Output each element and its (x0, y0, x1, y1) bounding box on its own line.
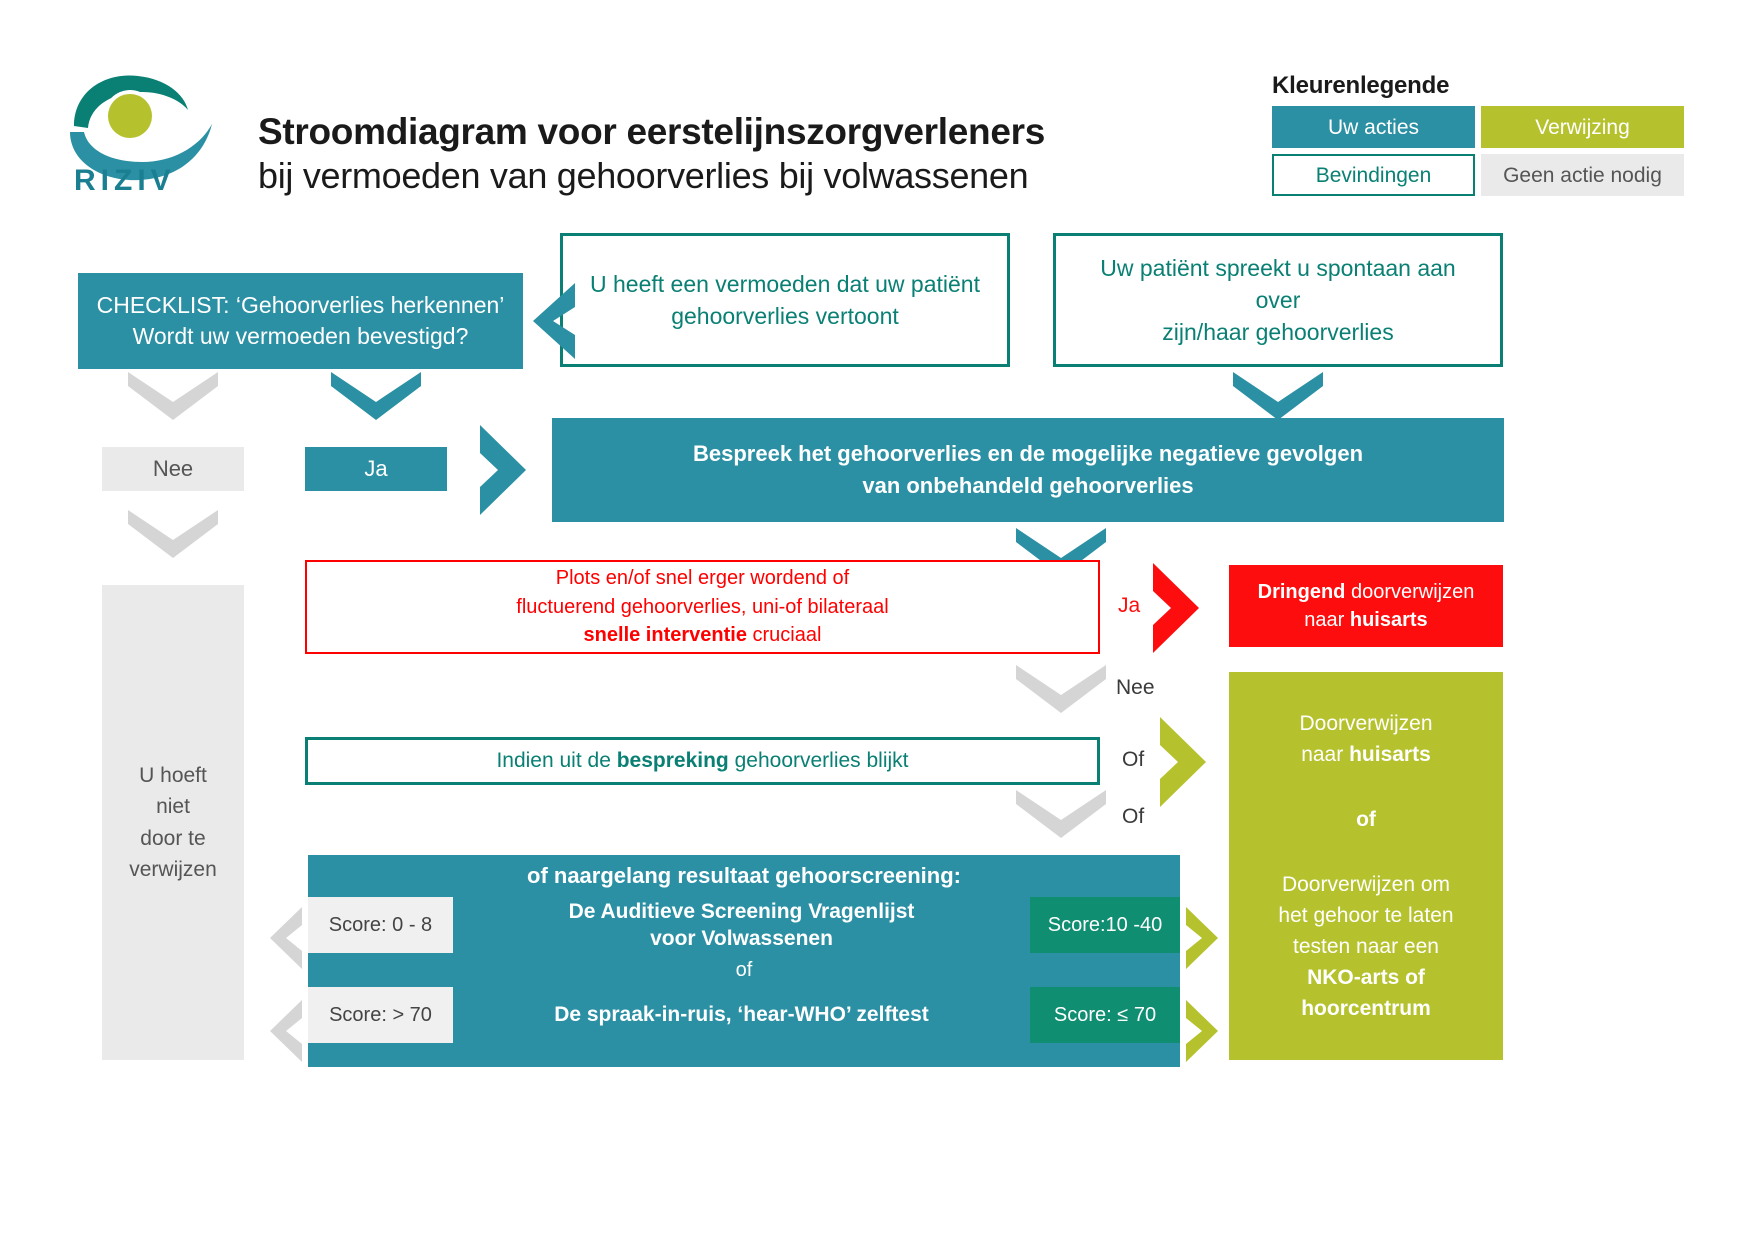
table-row: Score: 0 - 8 De Auditieve Screening Vrag… (308, 897, 1180, 953)
indien-bold: bespreking (617, 749, 729, 772)
arrow-right-indien-to-green (1160, 717, 1222, 807)
screening-footer-band (308, 1043, 1180, 1067)
arrow-right-screening-row2-to-green (1186, 1000, 1228, 1062)
legend-item-geen-actie-nodig: Geen actie nodig (1481, 154, 1684, 196)
edge-label-of-grey: Of (1122, 805, 1144, 829)
indien-pre: Indien uit de (496, 749, 616, 772)
plots-line-1: Plots en/of snel erger wordend of (556, 567, 850, 589)
green-line-1: Doorverwijzen (1299, 712, 1432, 735)
plots-line-3-rest: cruciaal (747, 624, 821, 646)
arrow-left-screening-row1-to-uhoeft (262, 907, 302, 969)
node-vermoeden: U heeft een vermoeden dat uw patiënt geh… (560, 233, 1010, 367)
flowchart-canvas: RIZIV Stroomdiagram voor eerstelijnszorg… (0, 0, 1752, 1241)
green-line-6: NKO-arts of (1307, 966, 1425, 989)
score-right-1: Score:10 -40 (1030, 897, 1180, 953)
screening-table: of naargelang resultaat gehoorscreening:… (308, 855, 1180, 1067)
dringend-line-2-rest: naar (1304, 609, 1350, 631)
page-title: Stroomdiagram voor eerstelijnszorgverlen… (258, 110, 1188, 197)
vermoeden-line-1: U heeft een vermoeden dat uw patiënt (590, 271, 980, 297)
uhoeft-line-1: U hoeft (139, 764, 207, 787)
label-nee: Nee (102, 447, 244, 491)
uhoeft-line-2: niet (156, 795, 190, 818)
title-line-2: bij vermoeden van gehoorverlies bij volw… (258, 154, 1188, 197)
dringend-line-2-bold: huisarts (1350, 609, 1428, 631)
score-right-2: Score: ≤ 70 (1030, 987, 1180, 1043)
screening-name-1-line-1: De Auditieve Screening Vragenlijst (569, 900, 915, 923)
score-left-1: Score: 0 - 8 (308, 897, 453, 953)
logo-wordmark: RIZIV (74, 164, 176, 197)
node-indien-uit-bespreking: Indien uit de bespreking gehoorverlies b… (305, 737, 1100, 785)
node-dringend-doorverwijzen-huisarts: Dringend doorverwijzen naar huisarts (1229, 565, 1503, 647)
green-line-5: testen naar een (1293, 935, 1439, 958)
node-doorverwijzen-huisarts-nko: Doorverwijzen naar huisarts of Doorverwi… (1229, 672, 1503, 1060)
dringend-rest: doorverwijzen (1345, 581, 1474, 603)
node-checklist: CHECKLIST: ‘Gehoorverlies herkennen’ Wor… (78, 273, 523, 369)
arrow-right-plots-ja-dringend (1153, 563, 1215, 653)
screening-name-1-line-2: voor Volwassenen (650, 927, 833, 950)
screening-separator: of (308, 953, 1180, 987)
arrow-down-nee-to-uhoeft (128, 510, 218, 558)
edge-label-of-olive-upper: Of (1122, 748, 1144, 772)
legend-row-2: Bevindingen Geen actie nodig (1272, 154, 1684, 196)
node-plots-snel-erger: Plots en/of snel erger wordend of fluctu… (305, 560, 1100, 654)
indien-post: gehoorverlies blijkt (729, 749, 909, 772)
arrow-down-plots-nee (1016, 665, 1106, 713)
spontaan-line-1: Uw patiënt spreekt u spontaan aan over (1100, 255, 1455, 313)
uhoeft-line-3: door te (140, 827, 205, 850)
screening-name-2: De spraak-in-ruis, ‘hear-WHO’ zelftest (453, 987, 1030, 1043)
arrow-left-screening-row2-to-uhoeft (262, 1000, 302, 1062)
arrow-right-screening-row1-to-green (1186, 907, 1228, 969)
legend-item-bevindingen: Bevindingen (1272, 154, 1475, 196)
plots-line-3-bold: snelle interventie (584, 624, 747, 646)
title-line-1: Stroomdiagram voor eerstelijnszorgverlen… (258, 110, 1188, 154)
arrow-down-spontaan-to-bespreek (1233, 372, 1323, 420)
green-of: of (1356, 808, 1376, 831)
green-line-2-rest: naar (1301, 743, 1349, 766)
node-u-hoeft-niet-door-te-verwijzen: U hoeft niet door te verwijzen (102, 585, 244, 1060)
legend-item-verwijzing: Verwijzing (1481, 106, 1684, 148)
dringend-bold: Dringend (1258, 581, 1346, 603)
arrow-down-indien-to-screening (1016, 790, 1106, 838)
legend-title: Kleurenlegende (1272, 72, 1684, 100)
spontaan-line-2: zijn/haar gehoorverlies (1162, 319, 1393, 345)
screening-name-1: De Auditieve Screening Vragenlijst voor … (453, 897, 1030, 953)
label-ja: Ja (305, 447, 447, 491)
node-bespreek-gehoorverlies: Bespreek het gehoorverlies en de mogelij… (552, 418, 1504, 522)
legend-item-uw-acties: Uw acties (1272, 106, 1475, 148)
arrow-down-checklist-ja (331, 372, 421, 420)
arrow-left-vermoeden-to-checklist (523, 283, 575, 359)
table-row: Score: > 70 De spraak-in-ruis, ‘hear-WHO… (308, 987, 1180, 1043)
green-line-2-bold: huisarts (1349, 743, 1431, 766)
riziv-logo: RIZIV (62, 62, 222, 197)
legend: Kleurenlegende Uw acties Verwijzing Bevi… (1272, 72, 1684, 202)
node-spontaan-aangesproken: Uw patiënt spreekt u spontaan aan over z… (1053, 233, 1503, 367)
vermoeden-line-2: gehoorverlies vertoont (671, 303, 899, 329)
plots-line-2: fluctuerend gehoorverlies, uni-of bilate… (516, 596, 888, 618)
checklist-line-2: Wordt uw vermoeden bevestigd? (133, 323, 469, 349)
checklist-line-1: CHECKLIST: ‘Gehoorverlies herkennen’ (97, 292, 505, 318)
edge-label-nee-grey: Nee (1116, 676, 1155, 700)
bespreek-line-2: van onbehandeld gehoorverlies (862, 473, 1193, 498)
green-line-3: Doorverwijzen om (1282, 873, 1450, 896)
bespreek-line-1: Bespreek het gehoorverlies en de mogelij… (693, 441, 1363, 466)
legend-row-1: Uw acties Verwijzing (1272, 106, 1684, 148)
screening-header: of naargelang resultaat gehoorscreening: (308, 855, 1180, 897)
green-line-7: hoorcentrum (1301, 997, 1431, 1020)
uhoeft-line-4: verwijzen (129, 858, 217, 881)
edge-label-ja-red: Ja (1118, 594, 1140, 618)
arrow-down-checklist-nee (128, 372, 218, 420)
arrow-right-ja-to-bespreek (480, 425, 542, 515)
green-line-4: het gehoor te laten (1278, 904, 1453, 927)
score-left-2: Score: > 70 (308, 987, 453, 1043)
